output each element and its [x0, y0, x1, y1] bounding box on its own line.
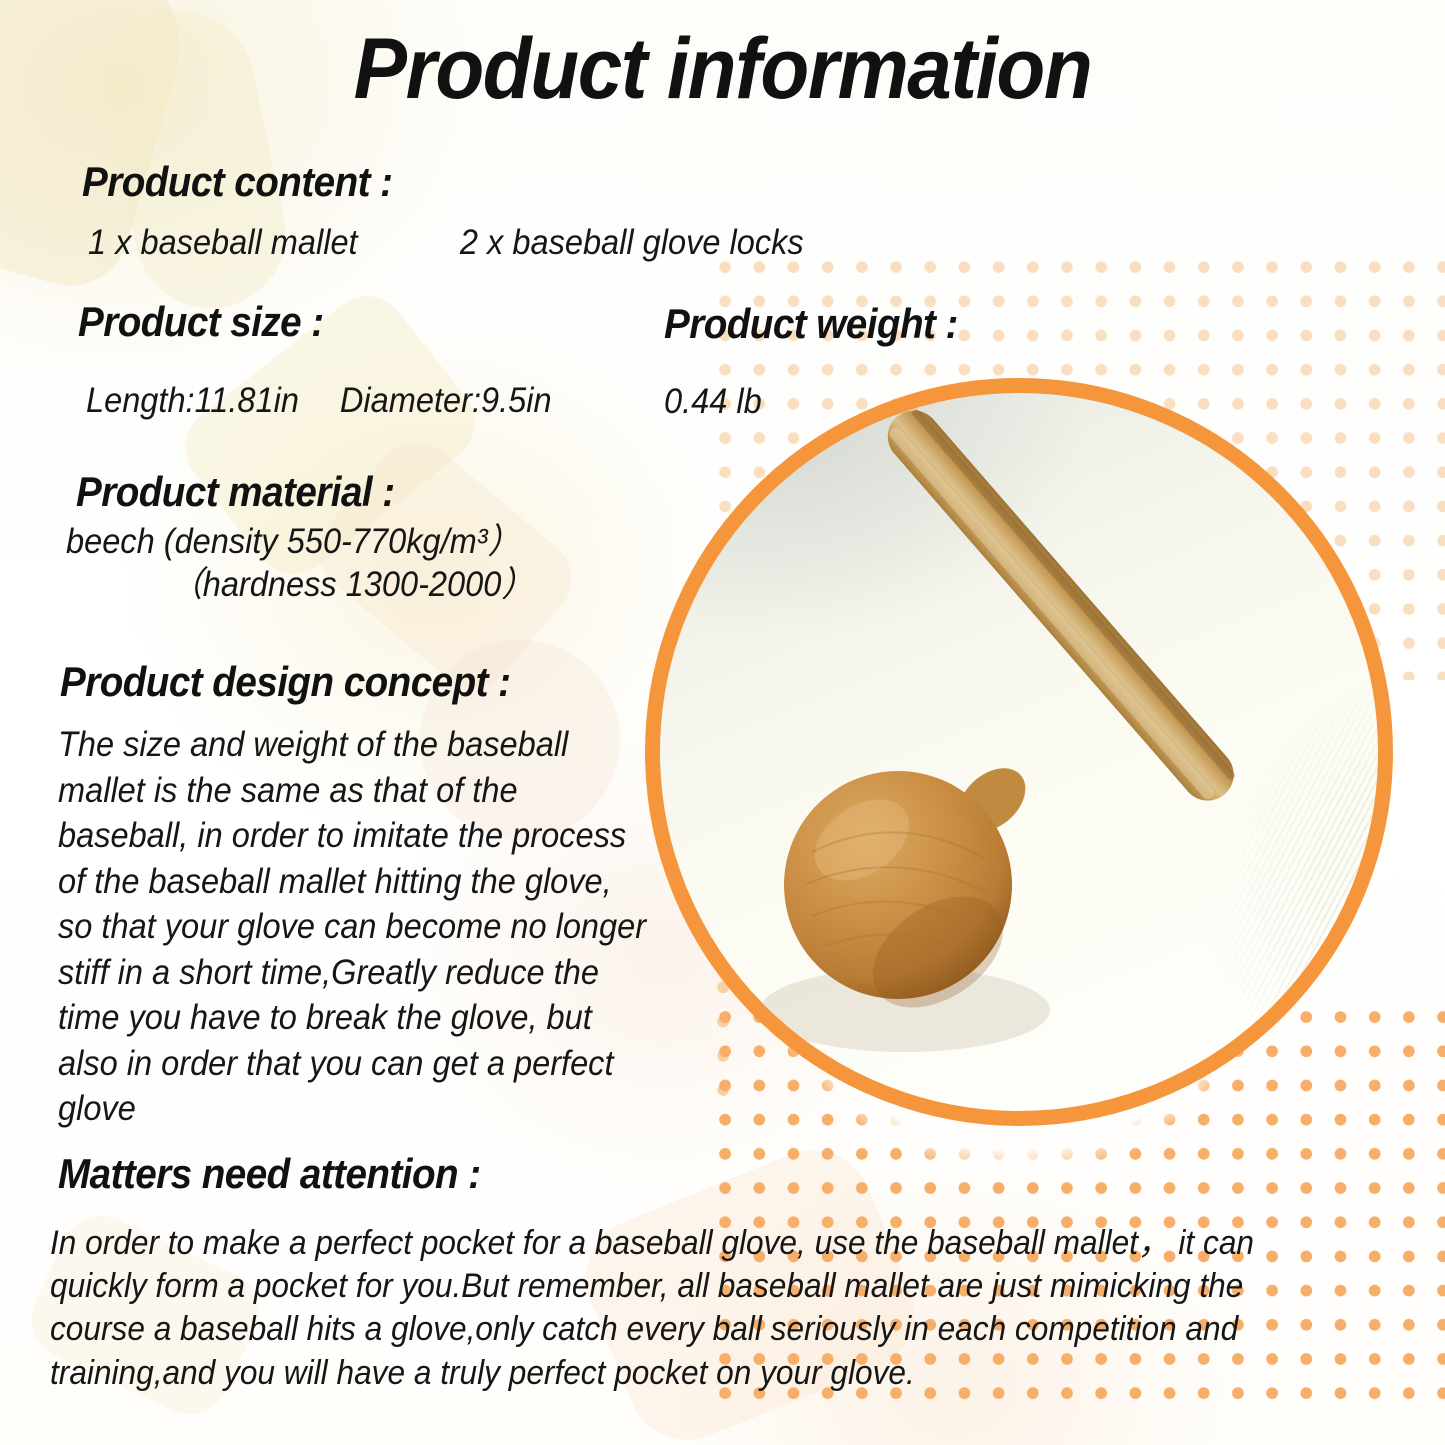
size-length: Length:11.81in	[86, 381, 299, 420]
product-size-heading: Product size :	[78, 300, 324, 344]
size-diameter: Diameter:9.5in	[340, 381, 552, 420]
product-content-items: 1 x baseball mallet2 x baseball glove lo…	[88, 222, 804, 265]
content-item-1: 1 x baseball mallet	[88, 223, 358, 262]
circle-stripe-texture	[660, 393, 1378, 1111]
page-title: Product information	[51, 26, 1395, 112]
attention-heading: Matters need attention :	[58, 1152, 481, 1196]
product-information-infographic: Product information Product content : 1 …	[0, 0, 1445, 1445]
product-weight-value: 0.44 lb	[664, 381, 762, 424]
design-concept-body: The size and weight of the baseball mall…	[58, 722, 649, 1132]
product-material-heading: Product material :	[76, 470, 395, 514]
product-content-heading: Product content :	[82, 160, 392, 204]
material-line-2: （hardness 1300-2000）	[170, 565, 534, 604]
material-line-1: beech (density 550-770kg/m³）	[66, 521, 643, 564]
design-concept-heading: Product design concept :	[60, 660, 510, 704]
material-line-2-wrap: （hardness 1300-2000）	[66, 564, 643, 607]
product-photo-circle	[645, 378, 1393, 1126]
product-size-values: Length:11.81inDiameter:9.5in	[86, 380, 552, 423]
product-weight-heading: Product weight :	[664, 302, 958, 346]
product-material-values: beech (density 550-770kg/m³） （hardness 1…	[66, 521, 643, 606]
attention-body: In order to make a perfect pocket for a …	[50, 1222, 1306, 1395]
content-item-2: 2 x baseball glove locks	[460, 223, 804, 262]
